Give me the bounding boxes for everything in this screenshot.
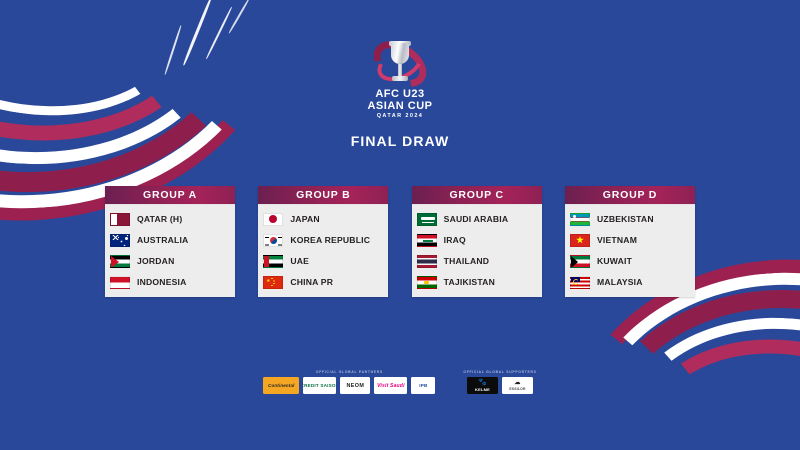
group-card-d: GROUP D UZBEKISTAN VIETNAM KUWAIT MALAYS… [565, 186, 695, 297]
flag-uae-icon [263, 255, 283, 268]
team-row: TAJIKISTAN [417, 273, 538, 291]
team-name: IRAQ [444, 235, 466, 245]
sponsor-logo-kelme-label: KELME [475, 387, 490, 392]
group-card-c: GROUP C SAUDI ARABIA IRAQ THAILAND TAJIK… [412, 186, 542, 297]
flag-kuwait-icon [570, 255, 590, 268]
streak-line [228, 0, 250, 34]
flag-thailand-icon [417, 255, 437, 268]
sponsor-logo-ipb: IPB [411, 377, 435, 394]
sponsor-logo-essilor: ☁ ESSILOR [502, 377, 533, 394]
flag-malaysia-icon [570, 276, 590, 289]
flag-china-icon [263, 276, 283, 289]
team-row: AUSTRALIA [110, 231, 231, 249]
team-row: QATAR (H) [110, 210, 231, 228]
tournament-logo: AFC U23 ASIAN CUP QATAR 2024 FINAL DRAW [0, 40, 800, 149]
afc-trophy-icon [369, 40, 431, 86]
flag-vietnam-icon [570, 234, 590, 247]
team-name: JAPAN [290, 214, 320, 224]
team-name: KUWAIT [597, 256, 632, 266]
team-name: JORDAN [137, 256, 175, 266]
flag-tajikistan-icon [417, 276, 437, 289]
team-name: TAJIKISTAN [444, 277, 495, 287]
group-title: GROUP A [105, 186, 235, 205]
supporters-caption: OFFICIAL GLOBAL SUPPORTERS [463, 370, 536, 374]
team-row: UZBEKISTAN [570, 210, 691, 228]
sponsor-logo-continental: Continental [263, 377, 299, 394]
flag-australia-icon [110, 234, 130, 247]
team-row: MALAYSIA [570, 273, 691, 291]
team-row: KUWAIT [570, 252, 691, 270]
team-row: INDONESIA [110, 273, 231, 291]
team-name: QATAR (H) [137, 214, 182, 224]
flag-indonesia-icon [110, 276, 130, 289]
team-name: MALAYSIA [597, 277, 643, 287]
flag-saudi-arabia-icon [417, 213, 437, 226]
team-name: UAE [290, 256, 309, 266]
team-row: JAPAN [263, 210, 384, 228]
paw-print-icon: 🐾 [478, 380, 487, 386]
team-name: UZBEKISTAN [597, 214, 654, 224]
sponsor-logo-essilor-label: ESSILOR [509, 387, 525, 391]
team-name: KOREA REPUBLIC [290, 235, 370, 245]
flag-jordan-icon [110, 255, 130, 268]
official-global-supporters: OFFICIAL GLOBAL SUPPORTERS 🐾 KELME ☁ ESS… [463, 370, 536, 394]
logo-line-1: AFC U23 [367, 89, 432, 100]
team-row: CHINA PR [263, 273, 384, 291]
flag-iraq-icon [417, 234, 437, 247]
official-global-partners: OFFICIAL GLOBAL PARTNERS Continental CRE… [263, 370, 435, 394]
sponsor-logo-kelme: 🐾 KELME [467, 377, 498, 394]
sponsor-bar: OFFICIAL GLOBAL PARTNERS Continental CRE… [0, 370, 800, 394]
team-name: THAILAND [444, 256, 490, 266]
group-cards: GROUP A QATAR (H) AUSTRALIA JORDAN INDON… [105, 186, 695, 297]
logo-line-2: ASIAN CUP [367, 100, 432, 112]
team-row: UAE [263, 252, 384, 270]
team-name: VIETNAM [597, 235, 637, 245]
flag-uzbekistan-icon [570, 213, 590, 226]
partners-caption: OFFICIAL GLOBAL PARTNERS [316, 370, 383, 374]
page-title: FINAL DRAW [351, 133, 450, 149]
group-title: GROUP B [258, 186, 388, 205]
team-row: IRAQ [417, 231, 538, 249]
flag-korea-icon [263, 234, 283, 247]
final-draw-graphic: AFC U23 ASIAN CUP QATAR 2024 FINAL DRAW … [0, 0, 800, 450]
glasses-icon: ☁ [514, 380, 520, 386]
team-name: AUSTRALIA [137, 235, 188, 245]
team-name: CHINA PR [290, 277, 333, 287]
sponsor-logo-neom: NEOM [340, 377, 370, 394]
team-row: SAUDI ARABIA [417, 210, 538, 228]
sponsor-logo-visit-saudi: Visit Saudi [374, 377, 407, 394]
flag-japan-icon [263, 213, 283, 226]
sponsor-logo-credit-saison: CREDIT SAISON [303, 377, 336, 394]
team-row: KOREA REPUBLIC [263, 231, 384, 249]
group-title: GROUP C [412, 186, 542, 205]
team-row: VIETNAM [570, 231, 691, 249]
logo-line-3: QATAR 2024 [367, 112, 432, 121]
group-card-a: GROUP A QATAR (H) AUSTRALIA JORDAN INDON… [105, 186, 235, 297]
group-card-b: GROUP B JAPAN KOREA REPUBLIC UAE CHINA P… [258, 186, 388, 297]
group-title: GROUP D [565, 186, 695, 205]
flag-qatar-icon [110, 213, 130, 226]
team-name: SAUDI ARABIA [444, 214, 509, 224]
team-row: THAILAND [417, 252, 538, 270]
team-name: INDONESIA [137, 277, 187, 287]
team-row: JORDAN [110, 252, 231, 270]
